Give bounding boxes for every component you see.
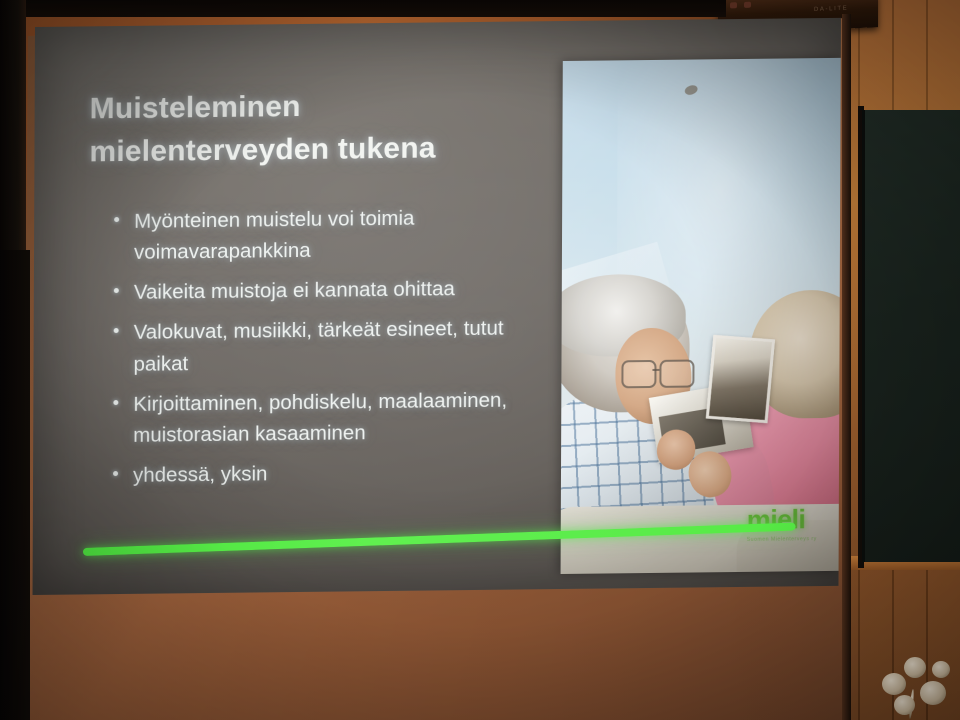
bullet-dot-icon xyxy=(114,217,119,222)
presentation-slide: Muisteleminen mielenterveyden tukena Myö… xyxy=(33,18,841,595)
photographed-room-scene: DA-LITE Muisteleminen mielenterveyden tu… xyxy=(0,0,960,720)
list-item: yhdessä, yksin xyxy=(111,455,559,491)
slide-title-line-1: Muisteleminen xyxy=(90,84,520,131)
bullet-dot-icon xyxy=(113,471,118,476)
bullet-dot-icon xyxy=(114,288,119,293)
bullet-text: Vaikeita muistoja ei kannata ohittaa xyxy=(134,272,560,308)
list-item: Valokuvat, musiikki, tärkeät esineet, tu… xyxy=(111,313,559,380)
ceiling-shadow-strip xyxy=(0,0,726,17)
eyeglasses-icon xyxy=(621,360,693,387)
list-item: Myönteinen muistelu voi toimia voimavara… xyxy=(112,201,560,268)
slide-bullet-list: Myönteinen muistelu voi toimia voimavara… xyxy=(111,201,560,500)
list-item: Kirjoittaminen, pohdiskelu, maalaaminen,… xyxy=(111,384,559,451)
bullet-text: Valokuvat, musiikki, tärkeät esineet, tu… xyxy=(133,313,559,380)
screen-right-edge xyxy=(842,14,851,720)
bullet-text: Kirjoittaminen, pohdiskelu, maalaaminen,… xyxy=(133,384,559,451)
flower-decoration xyxy=(880,655,954,720)
slide-title-line-2: mielenterveyden tukena xyxy=(89,126,519,173)
roller-brand-label: DA-LITE xyxy=(814,6,848,13)
slide-photo: mieli Suomen Mielenterveys ry xyxy=(561,58,841,574)
mieli-logo-subtitle: Suomen Mielenterveys ry xyxy=(747,536,841,543)
bullet-text: Myönteinen muistelu voi toimia voimavara… xyxy=(134,201,560,268)
held-photograph xyxy=(706,335,775,423)
bullet-dot-icon xyxy=(114,329,119,334)
bullet-text: yhdessä, yksin xyxy=(133,455,559,491)
slide-title: Muisteleminen mielenterveyden tukena xyxy=(89,84,519,174)
list-item: Vaikeita muistoja ei kannata ohittaa xyxy=(112,272,560,308)
left-lower-shadow xyxy=(0,250,30,720)
chalkboard xyxy=(862,110,960,562)
bullet-dot-icon xyxy=(113,400,118,405)
